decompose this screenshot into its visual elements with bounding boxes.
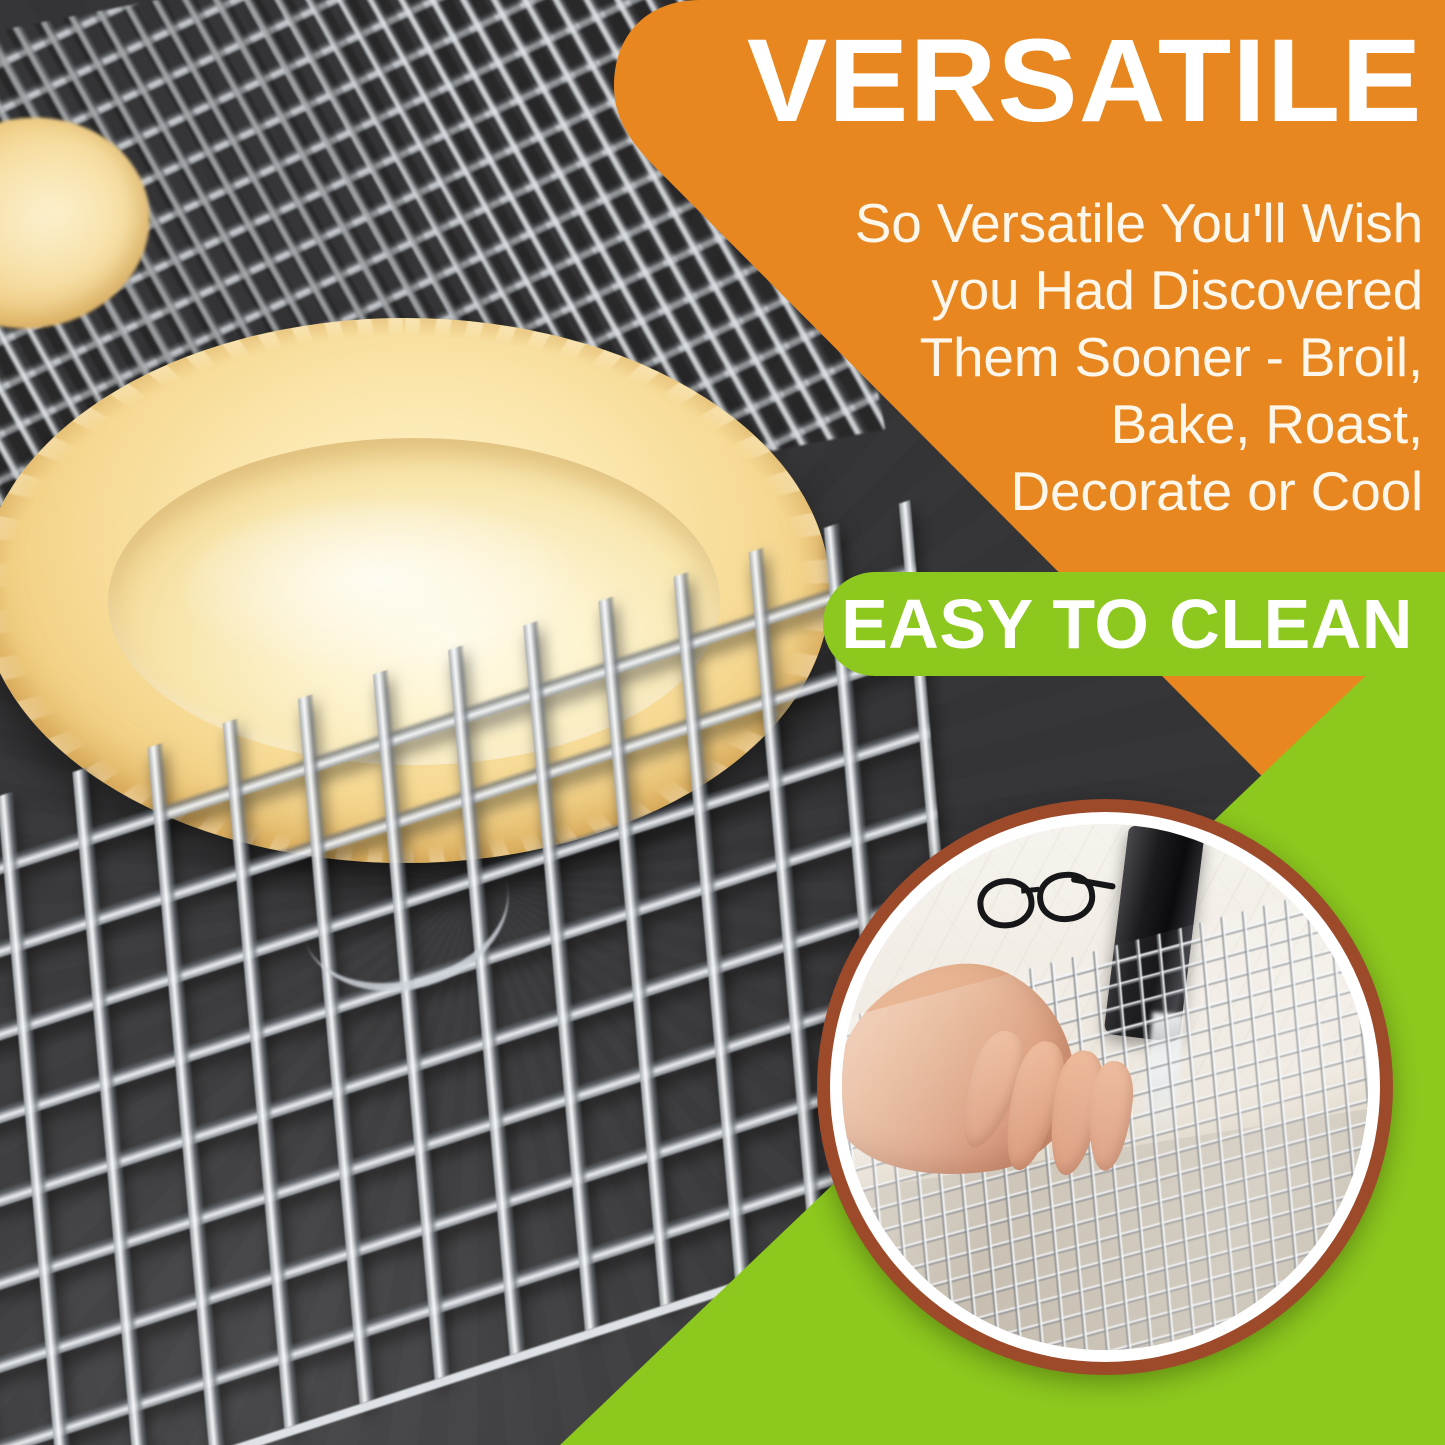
feature-description-line: you Had Discovered [783,257,1423,324]
inset-photo-ring [817,799,1393,1375]
feature-description-line: So Versatile You'll Wish [783,190,1423,257]
page-title: VERSATILE [644,22,1445,140]
feature-description: So Versatile You'll Wish you Had Discove… [783,190,1423,525]
feature-description-line: Bake, Roast, [783,391,1423,458]
feature-description-line: Decorate or Cool [783,458,1423,525]
inset-photo-rinsing-rack [842,824,1368,1350]
status-badge-label: EASY TO CLEAN [841,589,1427,659]
product-feature-image: VERSATILE So Versatile You'll Wish you H… [0,0,1445,1445]
feature-description-line: Them Sooner - Broil, [783,324,1423,391]
inset-photo-white-ring [830,812,1380,1362]
status-badge: EASY TO CLEAN [823,572,1445,676]
